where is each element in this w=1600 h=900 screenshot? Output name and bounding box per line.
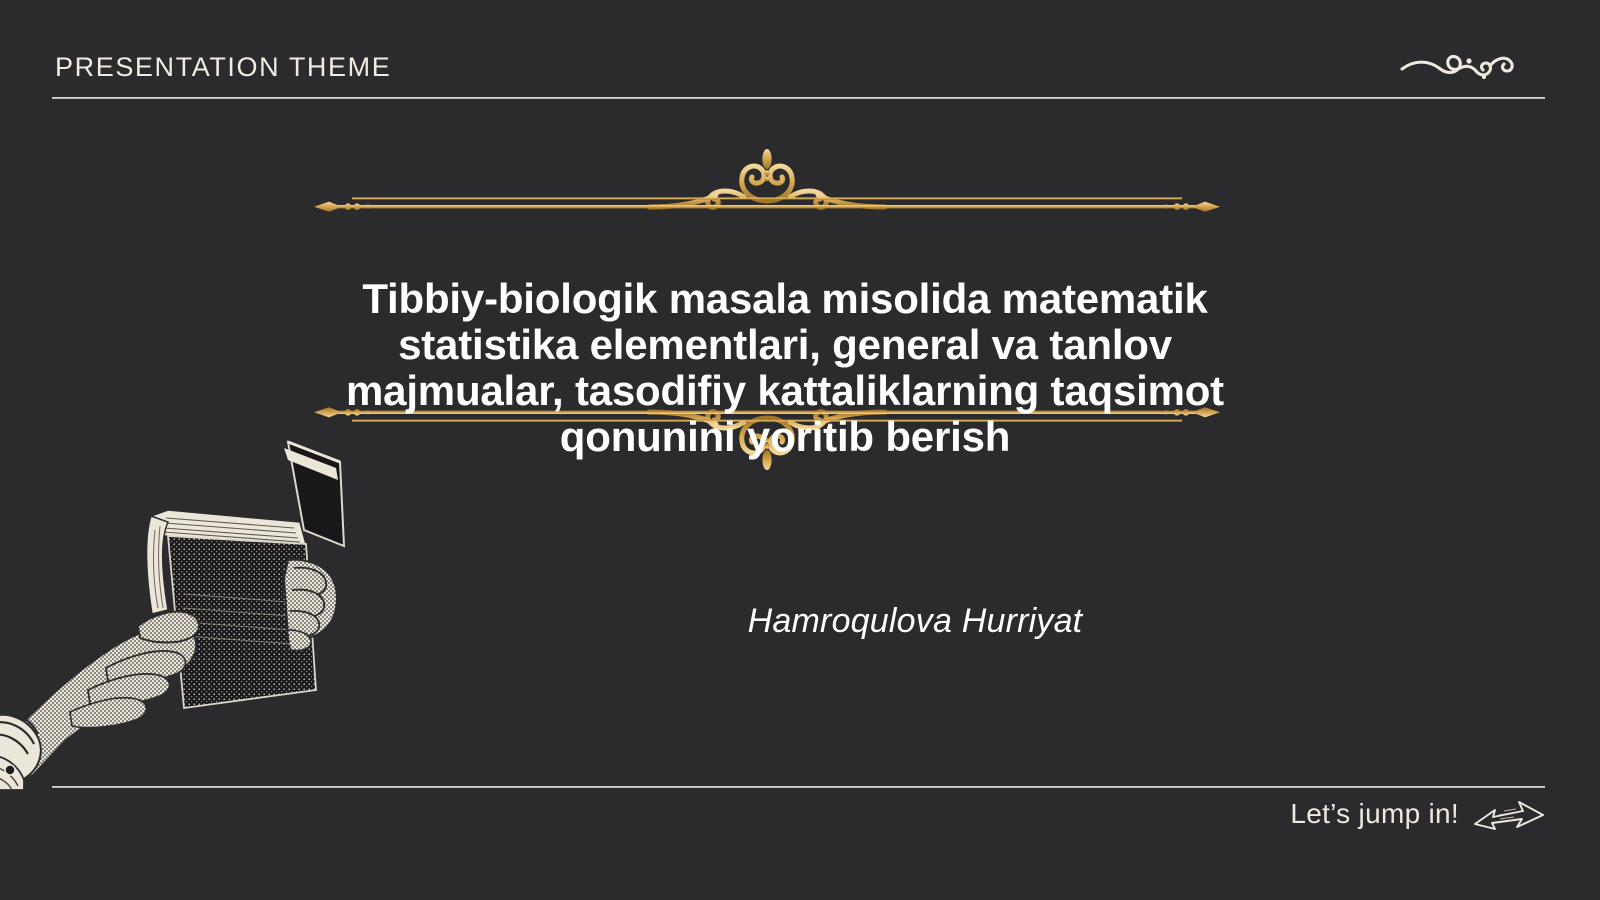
engraved-right-arrow-icon[interactable] xyxy=(1473,798,1545,832)
title-line: majmualar, tasodifiy kattaliklarning taq… xyxy=(300,368,1270,414)
title-line: Tibbiy-biologik masala misolida matemati… xyxy=(300,276,1270,322)
gold-scrollwork-divider-icon xyxy=(312,145,1222,217)
presentation-slide: PRESENTATION THEME xyxy=(0,0,1600,900)
cta-label[interactable]: Let’s jump in! xyxy=(1290,798,1459,830)
author-name: Hamroqulova Hurriyat xyxy=(300,602,1530,641)
flourish-swirl-ornament-icon xyxy=(1398,44,1518,88)
title-line: statistika elementlari, general va tanlo… xyxy=(300,322,1270,368)
title-line: qonunini yoritib berish xyxy=(300,414,1270,460)
page-title: PRESENTATION THEME xyxy=(55,52,391,83)
slide-title: Tibbiy-biologik masala misolida matemati… xyxy=(300,276,1270,460)
header-divider-rule xyxy=(52,97,1545,99)
